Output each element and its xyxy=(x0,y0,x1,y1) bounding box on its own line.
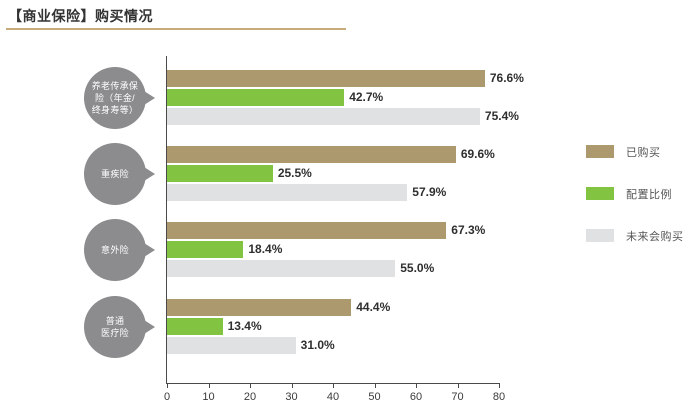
x-axis-tick-label: 40 xyxy=(327,391,339,403)
x-axis-tick-label: 0 xyxy=(164,391,170,403)
bar-未来会购买 xyxy=(167,260,395,277)
bar-value-label: 18.4% xyxy=(248,241,282,258)
bubble-tail-icon xyxy=(144,243,155,257)
x-axis-tick xyxy=(250,383,251,388)
bar-配置比例 xyxy=(167,241,243,258)
bar-配置比例 xyxy=(167,318,223,335)
category-label-1: 养老传承保险（年金/终身寿等） xyxy=(84,67,146,129)
bar-value-label: 67.3% xyxy=(451,222,485,239)
legend-item[interactable]: 已购买 xyxy=(586,145,686,187)
bar-value-label: 75.4% xyxy=(485,108,519,125)
legend-swatch-icon xyxy=(586,229,614,242)
bar-未来会购买 xyxy=(167,337,296,354)
x-axis-tick xyxy=(333,383,334,388)
x-axis-tick xyxy=(167,383,168,388)
bar-value-label: 31.0% xyxy=(301,337,335,354)
legend-label: 已购买 xyxy=(626,144,661,160)
bar-未来会购买 xyxy=(167,184,407,201)
legend-label: 未来会购买 xyxy=(626,228,684,244)
legend-item[interactable]: 未来会购买 xyxy=(586,229,686,271)
bar-value-label: 76.6% xyxy=(490,70,524,87)
bar-配置比例 xyxy=(167,89,344,106)
x-axis-tick xyxy=(209,383,210,388)
bar-value-label: 13.4% xyxy=(228,318,262,335)
category-label-text: 重疾险 xyxy=(101,168,129,180)
chart-legend: 已购买配置比例未来会购买 xyxy=(586,145,686,271)
x-axis-tick-label: 60 xyxy=(410,391,422,403)
category-label-2: 重疾险 xyxy=(84,143,146,205)
x-axis-tick xyxy=(292,383,293,388)
bubble-tail-icon xyxy=(144,320,155,334)
bar-已购买 xyxy=(167,70,485,87)
bar-value-label: 57.9% xyxy=(412,184,446,201)
bar-未来会购买 xyxy=(167,108,480,125)
x-axis-tick-label: 80 xyxy=(493,391,505,403)
bar-value-label: 69.6% xyxy=(461,146,495,163)
bar-value-label: 44.4% xyxy=(356,299,390,316)
x-axis-tick-label: 50 xyxy=(368,391,380,403)
bar-value-label: 42.7% xyxy=(349,89,383,106)
bar-value-label: 25.5% xyxy=(278,165,312,182)
x-axis-tick xyxy=(375,383,376,388)
bar-已购买 xyxy=(167,222,446,239)
bubble-tail-icon xyxy=(144,167,155,181)
x-axis-tick xyxy=(458,383,459,388)
category-label-4: 普通医疗险 xyxy=(84,296,146,358)
x-axis-tick xyxy=(416,383,417,388)
x-axis-tick-label: 10 xyxy=(202,391,214,403)
bar-chart: 01020304050607080 76.6%42.7%75.4%69.6%25… xyxy=(0,0,688,409)
category-label-3: 意外险 xyxy=(84,219,146,281)
category-label-text: 普通医疗险 xyxy=(101,315,129,339)
bubble-tail-icon xyxy=(144,91,155,105)
legend-label: 配置比例 xyxy=(626,186,672,202)
category-label-text: 意外险 xyxy=(101,244,129,256)
bar-配置比例 xyxy=(167,165,273,182)
legend-swatch-icon xyxy=(586,145,614,158)
x-axis-tick-label: 30 xyxy=(285,391,297,403)
legend-swatch-icon xyxy=(586,187,614,200)
category-label-text: 养老传承保险（年金/终身寿等） xyxy=(92,80,139,116)
x-axis-tick-label: 70 xyxy=(451,391,463,403)
bar-已购买 xyxy=(167,299,351,316)
legend-item[interactable]: 配置比例 xyxy=(586,187,686,229)
x-axis-tick-label: 20 xyxy=(244,391,256,403)
bar-已购买 xyxy=(167,146,456,163)
x-axis-tick xyxy=(499,383,500,388)
bar-value-label: 55.0% xyxy=(400,260,434,277)
